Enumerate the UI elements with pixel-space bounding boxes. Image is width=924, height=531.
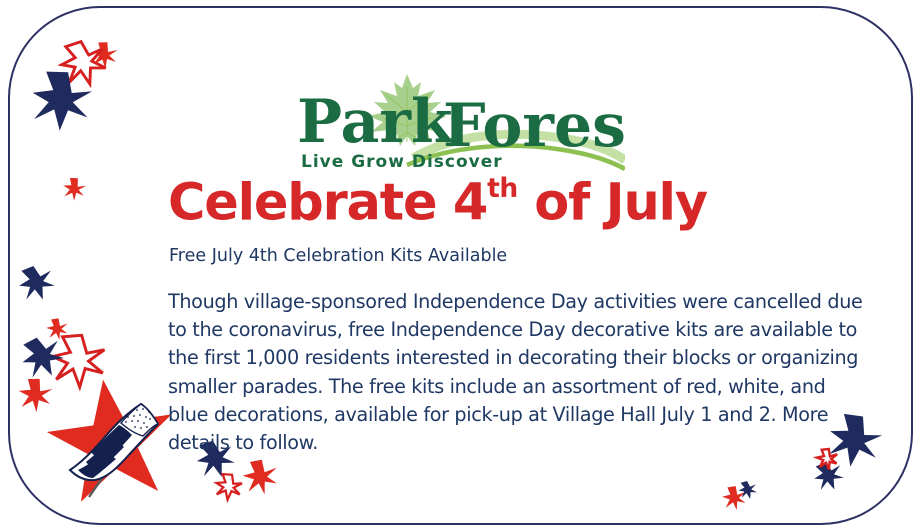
page-title: Celebrate 4th of July xyxy=(168,176,707,229)
star-red-solid-top-left-small xyxy=(88,39,120,71)
star-red-small-cluster-left xyxy=(45,317,69,341)
page-subtitle: Free July 4th Celebration Kits Available xyxy=(169,246,507,266)
star-red-outline-bottom-center xyxy=(213,472,244,503)
star-red-bottom-center xyxy=(241,458,279,496)
logo-tagline: Live Grow Discover xyxy=(301,152,503,172)
star-red-outline-top-left xyxy=(59,39,108,88)
flag-pole xyxy=(89,415,146,497)
star-navy-cluster-left xyxy=(17,332,68,383)
headline-ordinal-suffix: th xyxy=(487,173,518,204)
star-navy-mid-left xyxy=(16,262,57,303)
body-paragraph: Though village-sponsored Independence Da… xyxy=(168,288,868,457)
star-red-outline-cluster-left xyxy=(50,333,107,390)
logo-word-forest: Forest xyxy=(443,91,625,161)
flyer-page: Park Forest Live Grow Discover Celebrate… xyxy=(0,0,924,531)
star-red-solid-cluster-left xyxy=(14,374,55,415)
headline-text-after: of July xyxy=(518,174,707,233)
flag xyxy=(70,404,158,480)
logo-word-park: Park xyxy=(297,87,454,157)
star-navy-bottom-right-small xyxy=(811,459,846,494)
flag-backing-star xyxy=(41,371,182,505)
star-red-small-left xyxy=(60,174,89,203)
star-red-bottom-right-far xyxy=(721,484,748,511)
headline-text-before: Celebrate 4 xyxy=(168,174,487,233)
star-navy-top-left-large xyxy=(26,66,96,136)
park-forest-logo: Park Forest Live Grow Discover xyxy=(295,72,625,172)
firework-flag-star xyxy=(41,371,182,505)
star-navy-bottom-right-far xyxy=(738,480,758,500)
